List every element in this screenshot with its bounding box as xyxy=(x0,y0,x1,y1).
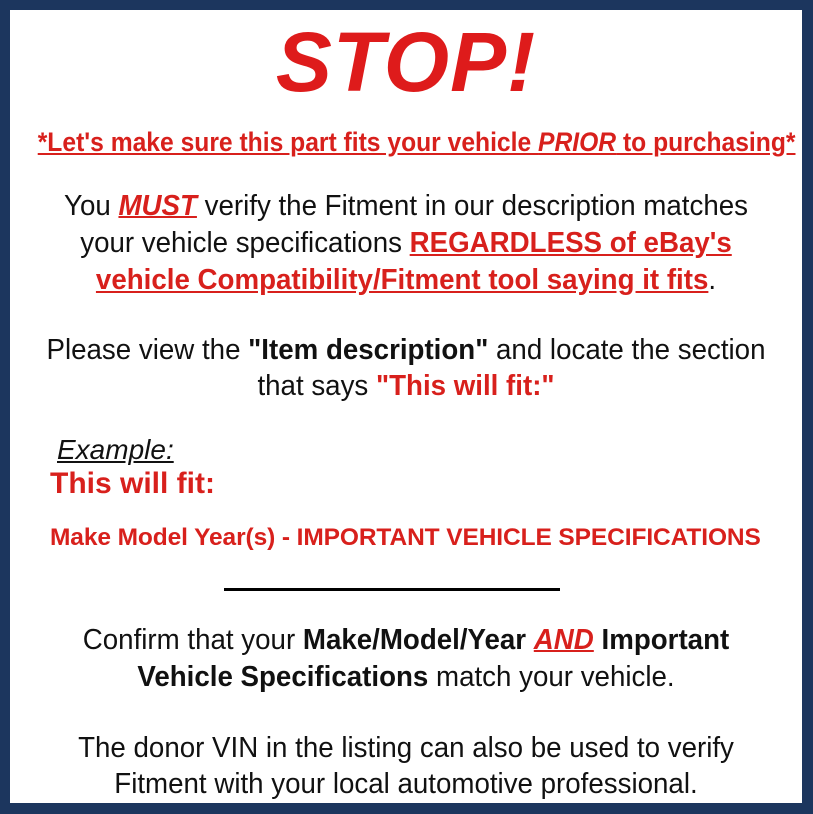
subtitle-emphasis-prior: PRIOR xyxy=(538,127,616,157)
paragraph-confirm-match: Confirm that your Make/Model/Year AND Im… xyxy=(28,596,784,696)
confirm-seg4: match your vehicle. xyxy=(428,661,674,693)
paragraph-view-description: Please view the "Item description" and l… xyxy=(28,299,784,406)
subtitle-text-before: *Let's make sure this part fits your veh… xyxy=(38,127,538,157)
emphasis-and: AND xyxy=(534,624,594,656)
must-seg1: You xyxy=(64,190,118,222)
confirm-seg3 xyxy=(594,624,602,656)
confirm-seg1: Confirm that your xyxy=(83,624,303,656)
divider-row xyxy=(10,551,802,596)
confirm-seg2 xyxy=(526,624,534,656)
paragraph-donor-vin: The donor VIN in the listing can also be… xyxy=(28,696,784,803)
view-seg1: Please view the xyxy=(47,334,249,366)
subtitle-banner: *Let's make sure this part fits your veh… xyxy=(38,104,775,157)
example-fit-heading: This will fit: xyxy=(50,465,802,500)
notice-content-panel: STOP! *Let's make sure this part fits yo… xyxy=(10,10,802,803)
emphasis-item-description: "Item description" xyxy=(248,334,488,366)
example-spec-line: Make Model Year(s) - IMPORTANT VEHICLE S… xyxy=(50,499,802,551)
example-block: Example: This will fit: Make Model Year(… xyxy=(10,405,802,551)
section-divider xyxy=(224,588,560,591)
emphasis-must: MUST xyxy=(118,190,196,222)
subtitle-text-after: to purchasing* xyxy=(616,127,795,157)
must-seg3: . xyxy=(708,264,716,296)
fitment-notice-banner: STOP! *Let's make sure this part fits yo… xyxy=(0,0,813,814)
emphasis-this-will-fit: "This will fit:" xyxy=(376,370,555,402)
example-label: Example: xyxy=(50,435,174,464)
page-title: STOP! xyxy=(10,10,802,104)
paragraph-must-verify: You MUST verify the Fitment in our descr… xyxy=(28,157,784,298)
emphasis-make-model-year: Make/Model/Year xyxy=(303,624,526,656)
